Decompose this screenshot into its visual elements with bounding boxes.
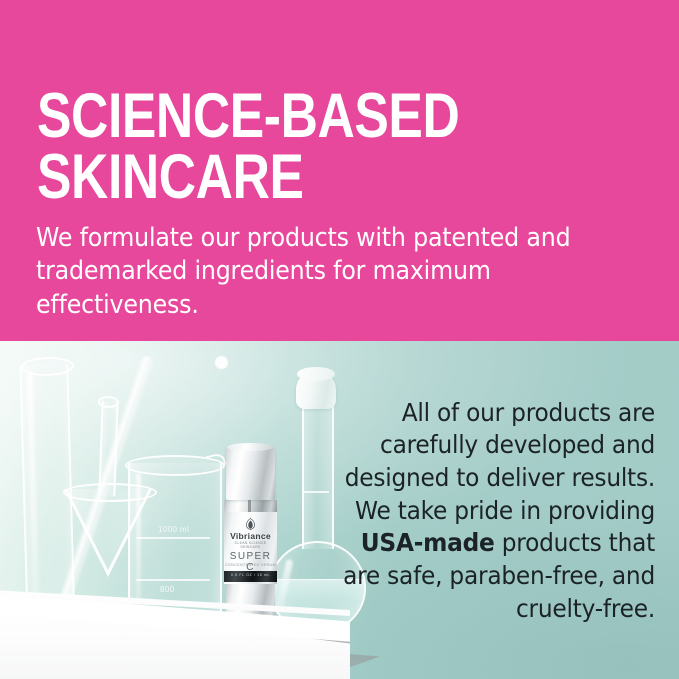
bottle-cap-top (227, 443, 274, 451)
photo-paragraph-emphasis: USA-made (361, 528, 495, 557)
flask-calibration-mark (303, 491, 329, 493)
bottle-volume-text: 0.5 FL OZ / 15 mL (224, 573, 277, 577)
hero-subheadline: We formulate our products with patented … (36, 222, 594, 324)
beaker-graduation-label: 1000 ml (158, 525, 189, 534)
beaker-graduation-line (136, 579, 210, 581)
bottle-brand-name: Vibriance (224, 531, 277, 541)
bottle-collar-seam (248, 500, 251, 512)
bottle-brand-tagline: CLEAN SCIENCE SKINCARE (224, 541, 277, 549)
flask-stopper-top-icon (297, 367, 335, 381)
stirring-rod-tip-icon (215, 356, 228, 369)
bottle-cap (226, 445, 275, 500)
beaker-graduation-label: 800 (160, 585, 175, 594)
flask-neck-icon (302, 403, 334, 549)
hero-pink-panel: SCIENCE-BASED SKINCARE We formulate our … (0, 0, 679, 341)
bottle-product-name: SUPER C (224, 551, 277, 573)
vibriance-logo-icon (245, 517, 256, 529)
page-title: SCIENCE-BASED SKINCARE (37, 86, 545, 208)
ad-banner: SCIENCE-BASED SKINCARE We formulate our … (0, 0, 679, 679)
bottle-product-subtitle: CONCENTRATED SERUM (224, 563, 277, 567)
photo-paragraph-part-1: All of our products are carefully develo… (345, 398, 655, 525)
beaker-graduation-line (136, 537, 210, 539)
photo-paragraph: All of our products are carefully develo… (342, 397, 656, 626)
product-photo-panel: 1000 ml 800 (0, 341, 679, 679)
